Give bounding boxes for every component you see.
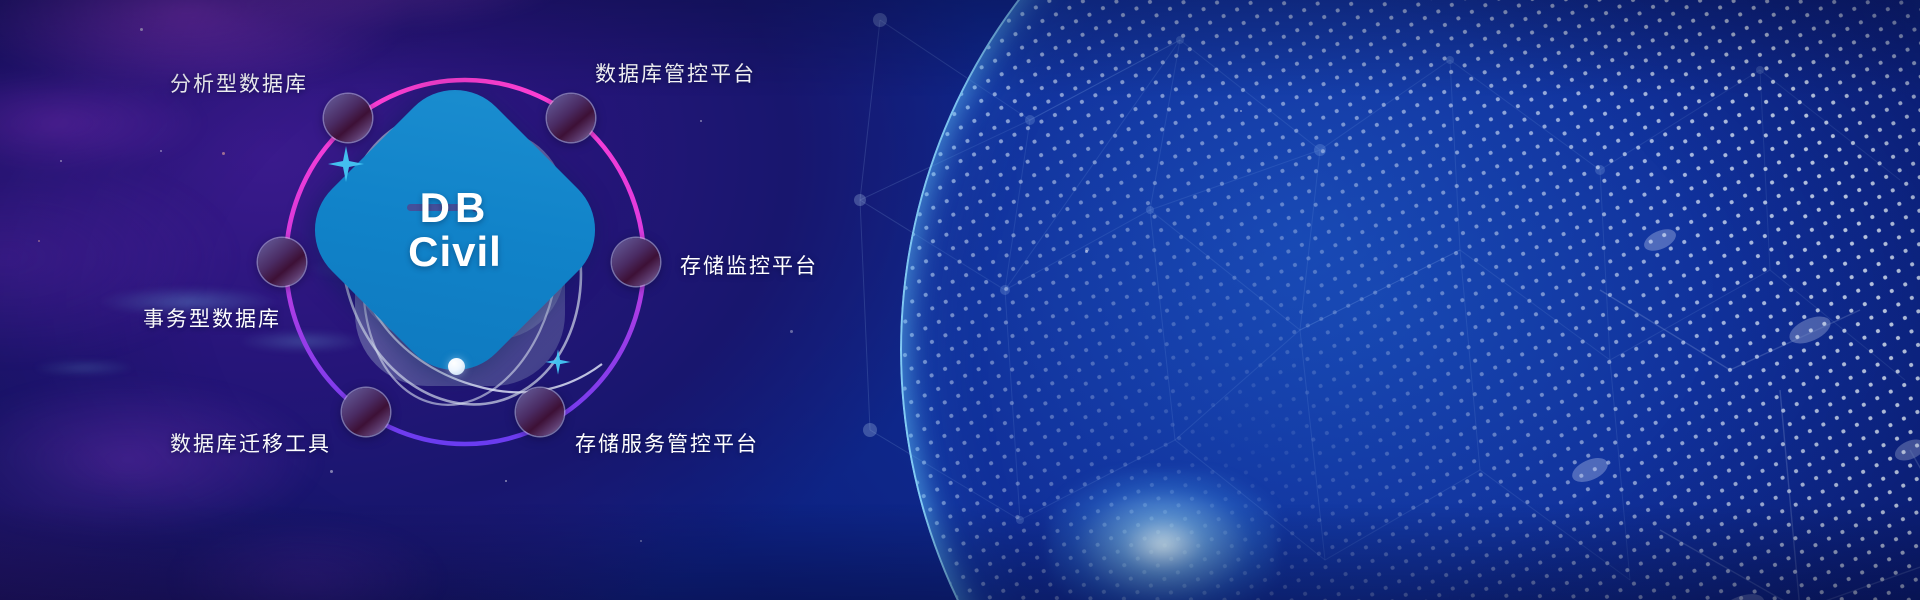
logo-white-dot [448, 358, 465, 375]
logo-dot-mark [472, 205, 479, 212]
label-storage-service-platform[interactable]: 存储服务管控平台 [575, 428, 759, 458]
label-storage-monitor-platform[interactable]: 存储监控平台 [680, 250, 818, 280]
logo-dash-mark [407, 204, 463, 211]
node-database-migration-tool[interactable] [342, 388, 390, 436]
label-analytical-database[interactable]: 分析型数据库 [170, 68, 308, 98]
hero-graphic: DB Civil [258, 58, 678, 478]
label-database-migration-tool[interactable]: 数据库迁移工具 [170, 428, 331, 458]
node-transactional-database[interactable] [258, 238, 306, 286]
node-storage-service-platform[interactable] [516, 388, 564, 436]
node-database-control-platform[interactable] [547, 94, 595, 142]
label-database-control-platform[interactable]: 数据库管控平台 [595, 58, 756, 88]
node-analytical-database[interactable] [324, 94, 372, 142]
banner-root: DB Civil 分析型数据库 数据库管控平台 存储监控平台 事务型数据库 数据… [0, 0, 1920, 600]
node-storage-monitor-platform[interactable] [612, 238, 660, 286]
label-transactional-database[interactable]: 事务型数据库 [143, 303, 281, 333]
